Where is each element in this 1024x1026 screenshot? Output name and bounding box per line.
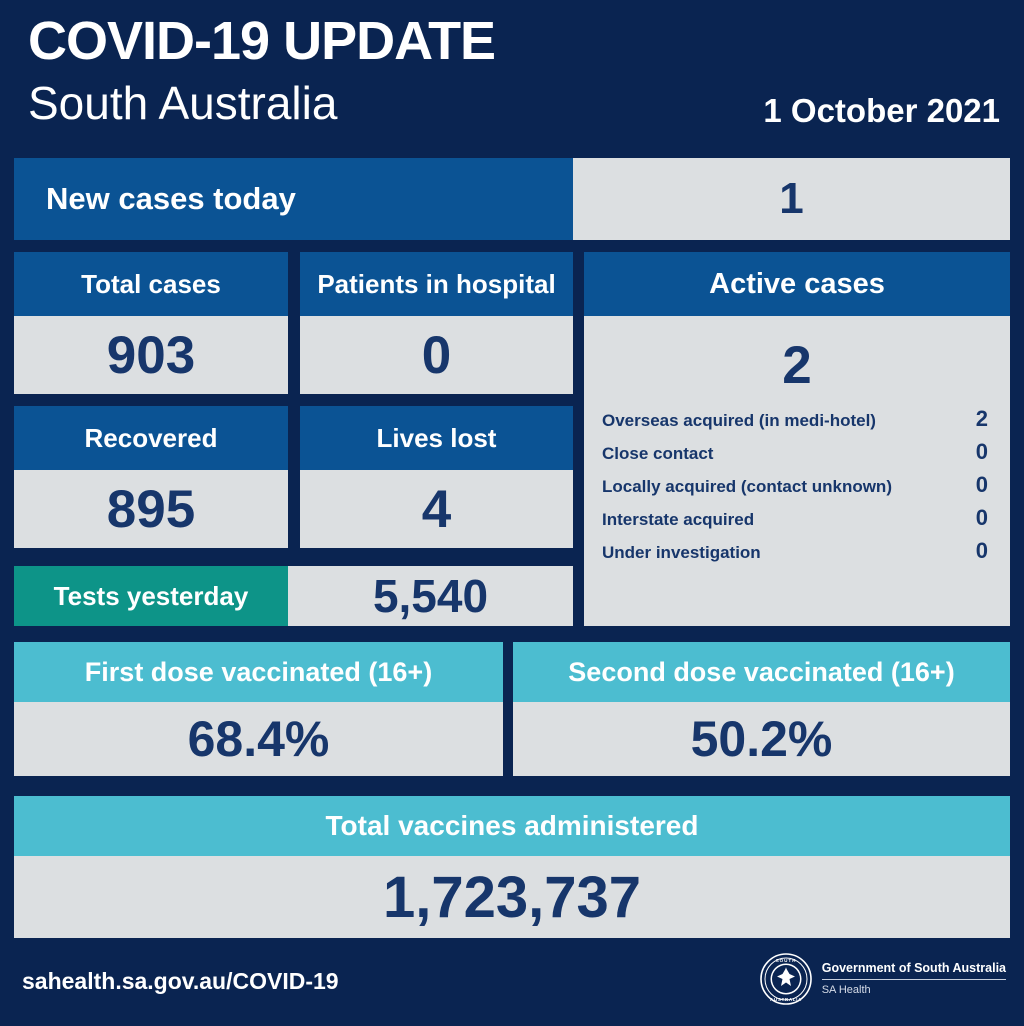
poster-header: COVID-19 UPDATE South Australia 1 Octobe…	[0, 0, 1024, 150]
svg-text:SOUTH: SOUTH	[775, 958, 796, 963]
total-vaccines-label: Total vaccines administered	[14, 796, 1010, 856]
breakdown-label: Overseas acquired (in medi-hotel)	[602, 411, 876, 431]
logo-text-block: Government of South Australia SA Health	[822, 961, 1006, 997]
total-vaccines-value: 1,723,737	[14, 856, 1010, 938]
patients-in-hospital-label: Patients in hospital	[300, 252, 573, 316]
new-cases-today-value: 1	[573, 158, 1010, 240]
second-dose-label: Second dose vaccinated (16+)	[513, 642, 1010, 702]
breakdown-label: Locally acquired (contact unknown)	[602, 477, 892, 497]
breakdown-value: 0	[976, 538, 988, 564]
breakdown-row: Interstate acquired 0	[602, 505, 988, 538]
breakdown-label: Under investigation	[602, 543, 761, 563]
logo-agency-line: SA Health	[822, 983, 1006, 997]
breakdown-label: Close contact	[602, 444, 713, 464]
breakdown-value: 2	[976, 406, 988, 432]
lives-lost-label: Lives lost	[300, 406, 573, 470]
breakdown-row: Close contact 0	[602, 439, 988, 472]
recovered-label: Recovered	[14, 406, 288, 470]
active-cases-label: Active cases	[584, 252, 1010, 316]
active-cases-value: 2	[584, 316, 1010, 396]
patients-in-hospital-value: 0	[300, 316, 573, 394]
breakdown-value: 0	[976, 505, 988, 531]
logo-government-line: Government of South Australia	[822, 961, 1006, 976]
active-cases-breakdown: Overseas acquired (in medi-hotel) 2 Clos…	[584, 406, 1010, 571]
breakdown-value: 0	[976, 439, 988, 465]
breakdown-row: Overseas acquired (in medi-hotel) 2	[602, 406, 988, 439]
covid-update-poster: COVID-19 UPDATE South Australia 1 Octobe…	[0, 0, 1024, 1026]
government-logo: SOUTH AUSTRALIA Government of South Aust…	[760, 950, 1006, 1008]
breakdown-label: Interstate acquired	[602, 510, 754, 530]
report-date: 1 October 2021	[763, 92, 1000, 130]
tests-yesterday-value: 5,540	[288, 566, 573, 626]
piping-shrike-badge-icon: SOUTH AUSTRALIA	[760, 953, 812, 1005]
tests-yesterday-label: Tests yesterday	[14, 566, 288, 626]
second-dose-value: 50.2%	[513, 702, 1010, 776]
page-title: COVID-19 UPDATE	[28, 12, 495, 70]
total-cases-value: 903	[14, 316, 288, 394]
sa-health-url[interactable]: sahealth.sa.gov.au/COVID-19	[22, 968, 339, 995]
svg-text:AUSTRALIA: AUSTRALIA	[770, 997, 802, 1002]
breakdown-value: 0	[976, 472, 988, 498]
recovered-value: 895	[14, 470, 288, 548]
page-subtitle: South Australia	[28, 78, 337, 128]
total-cases-label: Total cases	[14, 252, 288, 316]
logo-divider	[822, 979, 1006, 980]
first-dose-value: 68.4%	[14, 702, 503, 776]
active-cases-panel: 2 Overseas acquired (in medi-hotel) 2 Cl…	[584, 316, 1010, 626]
breakdown-row: Under investigation 0	[602, 538, 988, 571]
first-dose-label: First dose vaccinated (16+)	[14, 642, 503, 702]
breakdown-row: Locally acquired (contact unknown) 0	[602, 472, 988, 505]
lives-lost-value: 4	[300, 470, 573, 548]
new-cases-today-label: New cases today	[14, 158, 573, 240]
poster-footer: sahealth.sa.gov.au/COVID-19 SOUTH AUSTRA…	[0, 940, 1024, 1026]
